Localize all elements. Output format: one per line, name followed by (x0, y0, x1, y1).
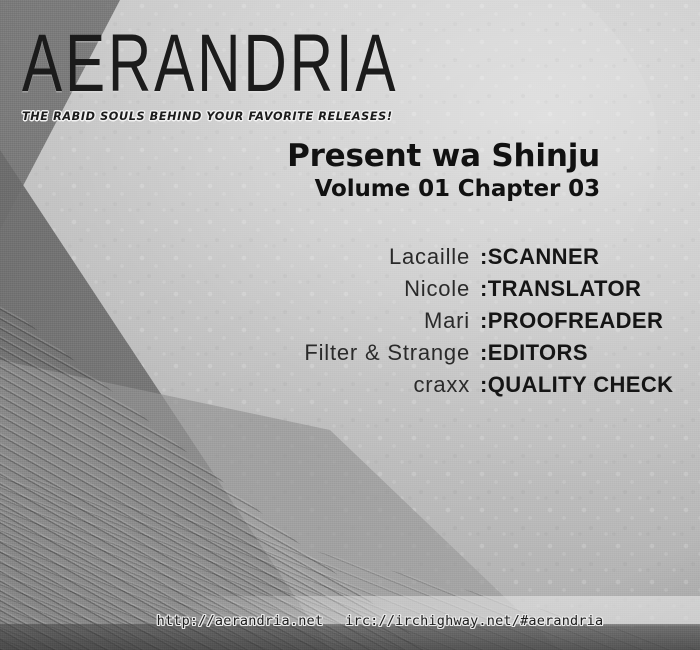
credit-role: :SCANNER (480, 244, 650, 270)
credit-role-label: PROOFREADER (488, 308, 664, 333)
logo-tagline: THE RABID SOULS BEHIND YOUR FAVORITE REL… (22, 109, 316, 123)
group-credits: Lacaille :SCANNER Nicole :TRANSLATOR Mar… (150, 244, 650, 404)
credit-name: Filter & Strange (150, 340, 480, 366)
credit-row: Nicole :TRANSLATOR (150, 276, 650, 308)
credit-role: :TRANSLATOR (480, 276, 650, 302)
credit-role: :EDITORS (480, 340, 650, 366)
credit-role-label: QUALITY CHECK (488, 372, 674, 397)
credit-role-label: EDITORS (488, 340, 588, 365)
irc-url[interactable]: irc://irchighway.net/#aerandria (345, 613, 603, 629)
website-url[interactable]: http://aerandria.net (157, 613, 324, 629)
credit-separator: : (480, 308, 488, 333)
credit-row: Mari :PROOFREADER (150, 308, 650, 340)
credit-role-label: SCANNER (488, 244, 600, 269)
credit-name: Lacaille (150, 244, 480, 270)
credit-separator: : (480, 244, 488, 269)
chapter-subtitle: Volume 01 Chapter 03 (0, 176, 600, 203)
group-footer: http://aerandria.netirc://irchighway.net… (0, 612, 700, 630)
credit-role: :PROOFREADER (480, 308, 663, 334)
credit-name: Nicole (150, 276, 480, 302)
credit-role: :QUALITY CHECK (480, 372, 673, 398)
credits-page: AERANDRIA THE RABID SOULS BEHIND YOUR FA… (0, 0, 700, 650)
credit-row: Filter & Strange :EDITORS (150, 340, 650, 372)
group-title: Present wa Shinju Volume 01 Chapter 03 (0, 138, 668, 203)
logo-wordmark: AERANDRIA (22, 22, 304, 104)
credit-separator: : (480, 276, 488, 301)
credit-role-label: TRANSLATOR (488, 276, 642, 301)
credit-name: craxx (150, 372, 480, 398)
credit-row: Lacaille :SCANNER (150, 244, 650, 276)
series-title: Present wa Shinju (0, 138, 600, 174)
content-layer: AERANDRIA THE RABID SOULS BEHIND YOUR FA… (0, 0, 700, 650)
credit-row: craxx :QUALITY CHECK (150, 372, 650, 404)
credit-name: Mari (150, 308, 480, 334)
credit-separator: : (480, 340, 488, 365)
credit-separator: : (480, 372, 488, 397)
group-logo: AERANDRIA THE RABID SOULS BEHIND YOUR FA… (22, 22, 322, 123)
